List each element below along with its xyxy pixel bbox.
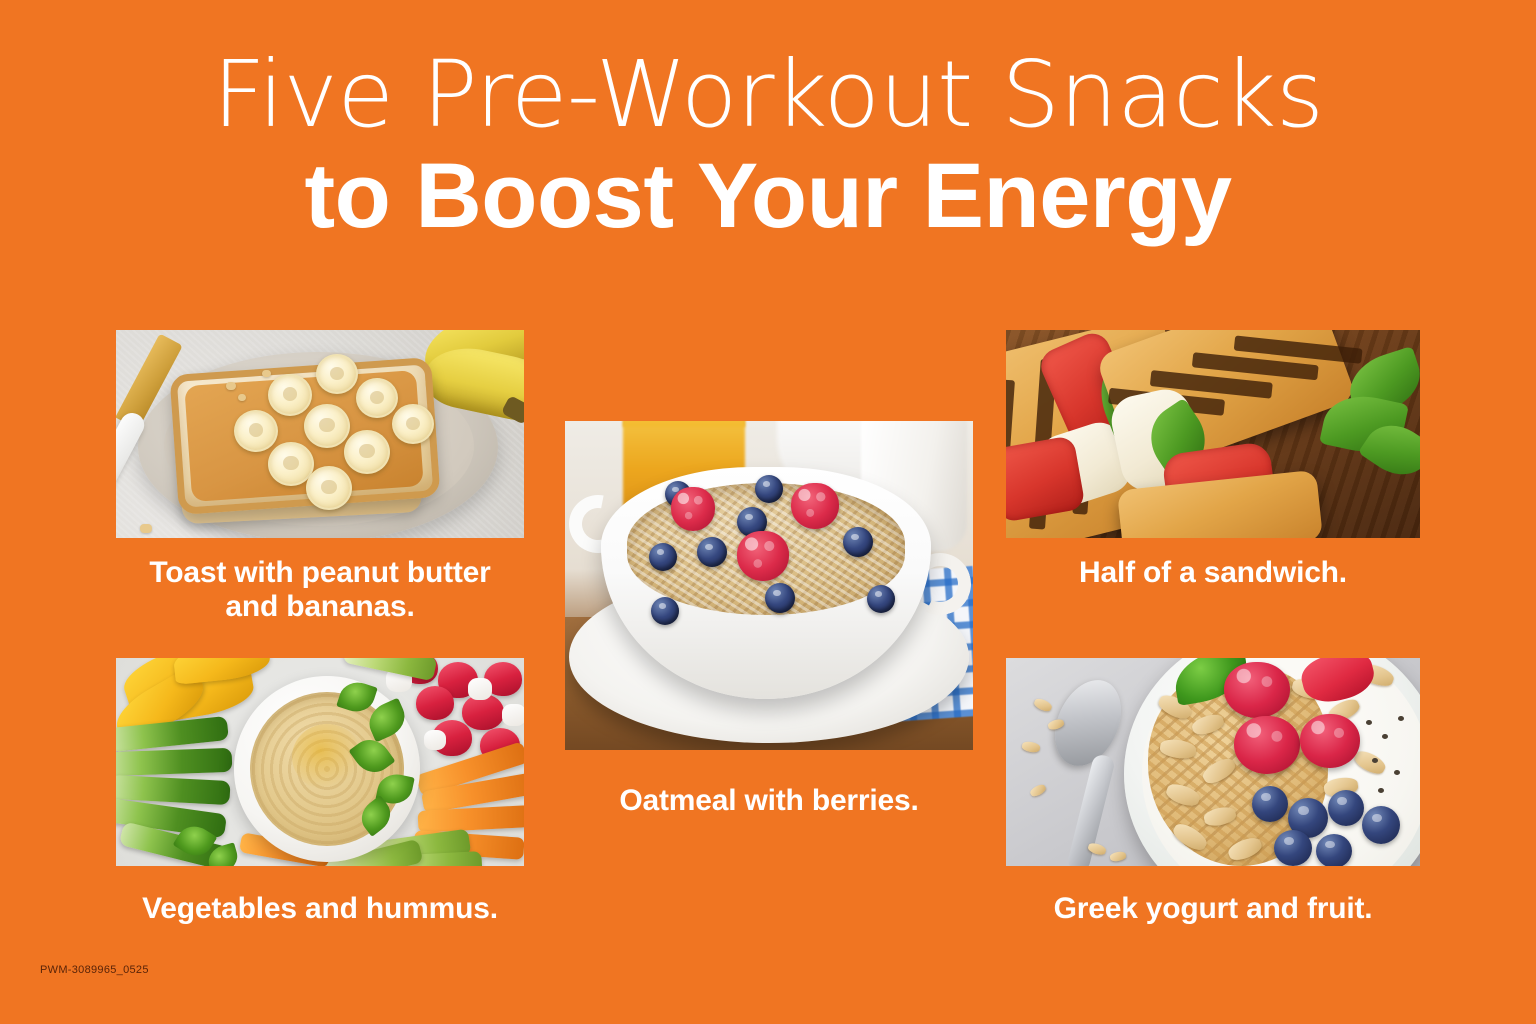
page-title: Five Pre-Workout Snacks to Boost Your En… [0, 48, 1536, 250]
crumb [238, 394, 246, 401]
chia-seed [1372, 758, 1378, 763]
raspberry [1300, 714, 1360, 768]
crumb [262, 370, 271, 377]
snack-card-sandwich: Half of a sandwich. [1006, 330, 1420, 590]
radish-white-flesh [468, 678, 492, 700]
banana-slice [268, 374, 312, 416]
snack-image-oatmeal [565, 421, 973, 750]
raspberry [791, 483, 839, 529]
blueberry [1274, 830, 1312, 866]
caption-line-1: Vegetables and hummus. [116, 892, 524, 926]
banana-slice [316, 354, 358, 394]
snack-card-toast: Toast with peanut butter and bananas. [116, 330, 524, 623]
blueberry [867, 585, 895, 613]
blueberry [1252, 786, 1288, 822]
caption-line-1: Toast with peanut butter [116, 556, 524, 590]
banana-slice [304, 404, 350, 448]
blueberry [765, 583, 795, 613]
cucumber-stick [116, 748, 232, 776]
banana-slice [234, 410, 278, 452]
snack-caption-toast: Toast with peanut butter and bananas. [116, 556, 524, 623]
chia-seed [1378, 788, 1384, 793]
chia-seed [1382, 734, 1388, 739]
radish-white-flesh [424, 730, 446, 750]
blueberry [697, 537, 727, 567]
blueberry [755, 475, 783, 503]
blueberry [1316, 834, 1352, 866]
document-code: PWM-3089965_0525 [40, 964, 149, 976]
banana-slice [306, 466, 352, 510]
chia-seed [1366, 720, 1372, 725]
snack-card-yogurt: Greek yogurt and fruit. [1006, 658, 1420, 926]
snack-caption-vegetables: Vegetables and hummus. [116, 892, 524, 926]
snack-image-yogurt [1006, 658, 1420, 866]
caption-line-1: Greek yogurt and fruit. [1006, 892, 1420, 926]
raspberry [1224, 662, 1290, 718]
caption-line-1: Half of a sandwich. [1006, 556, 1420, 590]
raspberry [737, 531, 789, 581]
chia-seed [1394, 770, 1400, 775]
blueberry [1328, 790, 1364, 826]
raspberry [1234, 716, 1300, 774]
snack-image-toast [116, 330, 524, 538]
chia-seed [1398, 716, 1404, 721]
snack-caption-sandwich: Half of a sandwich. [1006, 556, 1420, 590]
snack-card-oatmeal: Oatmeal with berries. [565, 421, 973, 818]
radish-white-flesh [502, 704, 524, 726]
blueberry [649, 543, 677, 571]
snack-card-vegetables: Vegetables and hummus. [116, 658, 524, 926]
caption-line-2: and bananas. [116, 590, 524, 624]
blueberry [843, 527, 873, 557]
blueberry [1362, 806, 1400, 844]
banana-slice [344, 430, 390, 474]
banana-slice [392, 404, 434, 444]
snack-image-vegetables [116, 658, 524, 866]
banana-slice [356, 378, 398, 418]
caption-line-1: Oatmeal with berries. [565, 784, 973, 818]
olive-oil-drizzle [292, 724, 362, 790]
snack-caption-yogurt: Greek yogurt and fruit. [1006, 892, 1420, 926]
page-title-line1: Five Pre-Workout Snacks [0, 48, 1536, 142]
radish-piece [416, 686, 454, 720]
snack-image-sandwich [1006, 330, 1420, 538]
raspberry [671, 487, 715, 531]
page-title-line2: to Boost Your Energy [0, 142, 1536, 251]
crumb [226, 382, 236, 390]
blueberry [651, 597, 679, 625]
snack-caption-oatmeal: Oatmeal with berries. [565, 784, 973, 818]
crumb [140, 524, 152, 533]
